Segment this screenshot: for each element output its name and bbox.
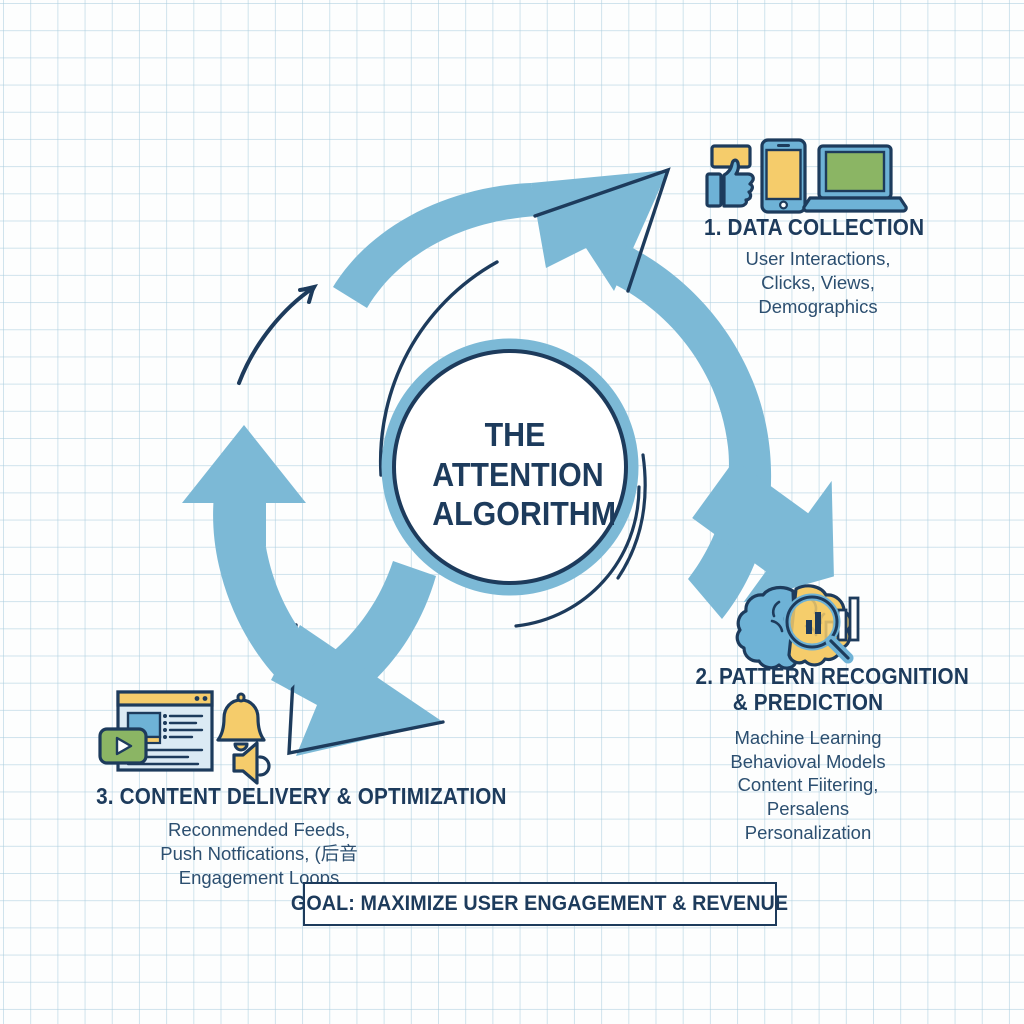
step2-body-line-4: Persalens	[683, 797, 933, 821]
step-content-delivery: 3. CONTENT DELIVERY & OPTIMIZATION Recon…	[78, 783, 440, 889]
smartphone-icon	[762, 140, 805, 212]
arrow-left-up	[213, 460, 322, 690]
step3-body-line-1: Reconmended Feeds,	[78, 818, 440, 842]
center-line-2: ATTENTION	[432, 455, 598, 495]
step2-body-line-2: Behavioval Models	[683, 750, 933, 774]
center-line-3: ALGORITHM	[432, 494, 598, 534]
arrow-to-data-collection-head	[531, 170, 668, 291]
arrow-left-up-head	[182, 425, 306, 546]
arrow-to-content-delivery-head	[271, 625, 443, 756]
goal-banner-text: GOAL: MAXIMIZE USER ENGAGEMENT & REVENUE	[291, 892, 788, 916]
magnifier-icon	[787, 597, 848, 658]
accent-curved-arrow	[239, 284, 318, 383]
speaker-icon	[234, 743, 269, 783]
goal-banner: GOAL: MAXIMIZE USER ENGAGEMENT & REVENUE	[303, 882, 777, 926]
step1-heading: 1. DATA COLLECTION	[704, 214, 924, 240]
step2-body-line-1: Machine Learning	[683, 726, 933, 750]
step1-body: User Interactions, Clicks, Views, Demogr…	[722, 247, 914, 318]
step3-body-line-2: Push Notfications, (后音	[78, 842, 440, 866]
brain-icon	[737, 586, 851, 668]
step3-heading: 3. CONTENT DELIVERY & OPTIMIZATION	[96, 783, 422, 809]
arrow-to-pattern-recognition-head	[670, 427, 879, 636]
step-data-collection: 1. DATA COLLECTION User Interactions, Cl…	[704, 214, 949, 318]
step1-body-line-1: User Interactions,	[722, 247, 914, 271]
infographic-canvas: THE ATTENTION ALGORITHM 1. DATA COLLECTI…	[0, 0, 1024, 1024]
center-circle-label: THE ATTENTION ALGORITHM	[432, 415, 598, 534]
step2-heading-line-2: & PREDICTION	[696, 689, 921, 715]
step1-body-line-3: Demographics	[722, 295, 914, 319]
step2-body-line-3: Content Fiitering,	[683, 773, 933, 797]
step2-body-line-5: Personalization	[683, 821, 933, 845]
browser-window-icon	[118, 692, 212, 770]
step2-heading-line-1: 2. PATTERN RECOGNITION	[696, 663, 921, 689]
step1-icons	[707, 140, 906, 212]
bell-icon	[218, 694, 264, 750]
play-button-icon	[100, 729, 146, 763]
center-line-1: THE	[432, 415, 598, 455]
arrow-to-data-collection	[333, 183, 538, 308]
step3-icons	[100, 692, 269, 783]
arrow-outline-c	[289, 625, 443, 753]
arrow-to-content-delivery	[311, 561, 436, 708]
step-pattern-recognition: 2. PATTERN RECOGNITION & PREDICTION Mach…	[683, 663, 933, 844]
arrow-outline-a1	[535, 170, 668, 291]
laptop-icon	[804, 146, 906, 211]
step1-body-line-2: Clicks, Views,	[722, 271, 914, 295]
step2-body: Machine Learning Behavioval Models Conte…	[683, 726, 933, 844]
bar-chart-icon	[826, 598, 858, 640]
step3-body: Reconmended Feeds, Push Notfications, (后…	[78, 818, 440, 889]
step2-icons	[737, 586, 858, 668]
circle-accent-arc-2	[618, 455, 645, 578]
thumbs-up-icon	[707, 146, 753, 206]
